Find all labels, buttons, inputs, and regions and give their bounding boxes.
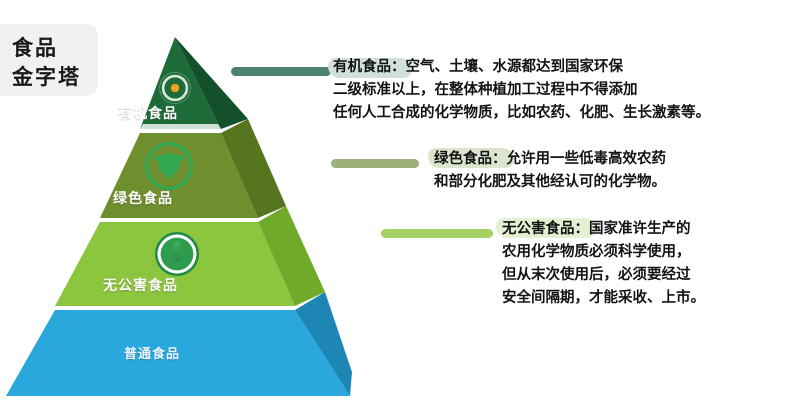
- description-pollution-free-line-2: 农用化学物质必须科学使用，: [502, 241, 705, 264]
- organic-food-seal-icon: [159, 72, 191, 104]
- pyramid-label-common: 普通食品: [124, 343, 180, 362]
- green-food-logo-arc: [154, 155, 184, 161]
- green-food-logo-icon: [145, 142, 193, 190]
- description-pollution-free-line-1: 无公害食品：国家准许生产的: [502, 218, 705, 241]
- description-organic: 有机食品：空气、土壤、水源都达到国家环保 二级标准以上，在整体种植加工过程中不得…: [333, 56, 710, 125]
- pyramid-label-green: 绿色食品: [113, 188, 173, 208]
- wheat-glyph: [173, 241, 181, 261]
- description-green-line-1: 绿色食品：允许用一些低毒高效农药: [434, 148, 666, 171]
- description-green: 绿色食品：允许用一些低毒高效农药 和部分化肥及其他经认可的化学物。: [434, 148, 666, 194]
- connector-organic: [231, 67, 331, 76]
- description-pollution-free-line-3: 但从末次使用后，必须要经过: [502, 264, 705, 287]
- pyramid-label-organic: 有机食品: [118, 103, 178, 123]
- description-organic-line-1: 有机食品：空气、土壤、水源都达到国家环保: [333, 56, 710, 79]
- connector-green: [331, 159, 419, 168]
- description-organic-line-3: 任何人工合成的化学物质，比如农药、化肥、生长激素等。: [333, 102, 710, 125]
- description-pollution-free: 无公害食品：国家准许生产的 农用化学物质必须科学使用， 但从末次使用后，必须要经…: [502, 218, 705, 310]
- description-organic-line-2: 二级标准以上，在整体种植加工过程中不得添加: [333, 79, 710, 102]
- food-pyramid-infographic: 食品 金字塔: [0, 0, 804, 403]
- green-food-logo-bud: [164, 162, 174, 178]
- pyramid-label-pollution-free: 无公害食品: [103, 275, 178, 295]
- pollution-free-food-seal-icon: [155, 232, 199, 276]
- description-pollution-free-line-4: 安全间隔期，才能采收、上市。: [502, 287, 705, 310]
- description-green-line-2: 和部分化肥及其他经认可的化学物。: [434, 171, 666, 194]
- connector-pollution-free: [381, 229, 493, 238]
